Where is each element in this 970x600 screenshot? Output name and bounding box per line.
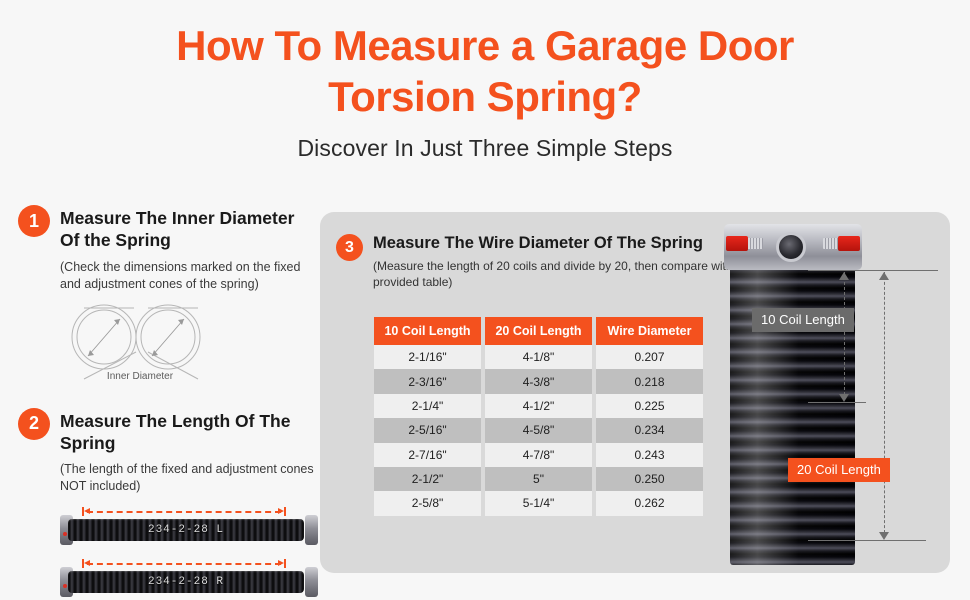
title-line-2: Torsion Spring? <box>0 71 970 122</box>
spring-part-number: 234-2-28 R <box>68 576 304 588</box>
tick-mid <box>808 402 866 403</box>
cell-20-coil: 5" <box>485 467 592 491</box>
cell-10-coil: 2-1/4" <box>374 394 481 418</box>
cell-wire-diameter: 0.234 <box>596 418 703 442</box>
wire-diameter-table: 10 Coil Length 20 Coil Length Wire Diame… <box>370 317 707 516</box>
ten-coil-arrow-up <box>839 272 849 280</box>
cell-10-coil: 2-5/16" <box>374 418 481 442</box>
cell-10-coil: 2-1/2" <box>374 467 481 491</box>
cell-20-coil: 4-3/8" <box>485 369 592 393</box>
step-2-title: Measure The Length Of The Spring <box>60 408 318 455</box>
column-header-20-coil: 20 Coil Length <box>485 317 592 345</box>
tick-top <box>808 270 938 271</box>
table-row: 2-3/16" 4-3/8" 0.218 <box>374 369 703 393</box>
cell-wire-diameter: 0.218 <box>596 369 703 393</box>
step-3-number: 3 <box>336 234 363 261</box>
ten-coil-measure-line <box>844 272 845 400</box>
spring-coil-body: 234-2-28 L <box>68 519 304 541</box>
table-row: 2-1/2" 5" 0.250 <box>374 467 703 491</box>
step-1-note: (Check the dimensions marked on the fixe… <box>60 259 318 293</box>
cell-20-coil: 4-1/2" <box>485 394 592 418</box>
twenty-coil-callout: 20 Coil Length <box>788 458 890 482</box>
cell-20-coil: 4-1/8" <box>485 345 592 369</box>
step-3-panel: 3 Measure The Wire Diameter Of The Sprin… <box>320 212 950 573</box>
cell-20-coil: 4-5/8" <box>485 418 592 442</box>
step-3-note: (Measure the length of 20 coils and divi… <box>373 259 766 291</box>
ten-coil-callout: 10 Coil Length <box>752 308 854 332</box>
twenty-coil-measure-line <box>884 272 885 538</box>
table-row: 2-1/16" 4-1/8" 0.207 <box>374 345 703 369</box>
cell-10-coil: 2-7/16" <box>374 443 481 467</box>
winding-cone-image <box>724 224 862 270</box>
length-dimension-arrow <box>82 507 286 516</box>
title-line-1: How To Measure a Garage Door <box>176 22 794 69</box>
cell-wire-diameter: 0.262 <box>596 491 703 515</box>
inner-diameter-label: Inner Diameter <box>107 371 174 382</box>
cell-wire-diameter: 0.250 <box>596 467 703 491</box>
inner-diameter-diagram: Inner Diameter <box>60 299 318 389</box>
twenty-coil-arrow-down <box>879 532 889 540</box>
header: How To Measure a Garage Door Torsion Spr… <box>0 0 970 162</box>
cell-10-coil: 2-5/8" <box>374 491 481 515</box>
set-screw-left <box>726 236 748 251</box>
step-2-header: 2 Measure The Length Of The Spring <box>18 408 318 455</box>
infographic-root: How To Measure a Garage Door Torsion Spr… <box>0 0 970 600</box>
step-2: 2 Measure The Length Of The Spring (The … <box>18 408 318 600</box>
cell-20-coil: 5-1/4" <box>485 491 592 515</box>
spring-right-hand: 234-2-28 R <box>60 557 318 599</box>
cell-10-coil: 2-3/16" <box>374 369 481 393</box>
table-header-row: 10 Coil Length 20 Coil Length Wire Diame… <box>374 317 703 345</box>
step-1-header: 1 Measure The Inner Diameter Of the Spri… <box>18 205 318 252</box>
spring-coil-body: 234-2-28 R <box>68 571 304 593</box>
cell-20-coil: 4-7/8" <box>485 443 592 467</box>
step-1: 1 Measure The Inner Diameter Of the Spri… <box>18 205 318 389</box>
tick-bottom <box>808 540 926 541</box>
cell-wire-diameter: 0.243 <box>596 443 703 467</box>
inner-diameter-svg: Inner Diameter <box>60 299 220 384</box>
cone-shaft-hole <box>776 232 806 262</box>
spring-coils-image <box>730 260 855 565</box>
spring-photo: 10 Coil Length 20 Coil Length <box>720 212 950 573</box>
set-screw-right <box>838 236 860 251</box>
column-header-wire-diameter: Wire Diameter <box>596 317 703 345</box>
spring-part-number: 234-2-28 L <box>68 524 304 536</box>
step-3-title: Measure The Wire Diameter Of The Spring <box>373 234 766 254</box>
page-title: How To Measure a Garage Door Torsion Spr… <box>0 0 970 122</box>
steps-column: 1 Measure The Inner Diameter Of the Spri… <box>18 205 318 599</box>
table-row: 2-5/16" 4-5/8" 0.234 <box>374 418 703 442</box>
table-row: 2-7/16" 4-7/8" 0.243 <box>374 443 703 467</box>
ten-coil-arrow-down <box>839 394 849 402</box>
step-1-title: Measure The Inner Diameter Of the Spring <box>60 205 318 252</box>
cell-wire-diameter: 0.207 <box>596 345 703 369</box>
spring-left-hand: 234-2-28 L <box>60 505 318 547</box>
stationary-cone-icon <box>305 567 318 597</box>
cell-10-coil: 2-1/16" <box>374 345 481 369</box>
page-subtitle: Discover In Just Three Simple Steps <box>0 122 970 162</box>
stationary-cone-icon <box>305 515 318 545</box>
step-2-note: (The length of the fixed and adjustment … <box>60 461 318 495</box>
step-3-header: 3 Measure The Wire Diameter Of The Sprin… <box>336 234 766 290</box>
step-2-number: 2 <box>18 408 50 440</box>
cell-wire-diameter: 0.225 <box>596 394 703 418</box>
twenty-coil-arrow-up <box>879 272 889 280</box>
step-1-number: 1 <box>18 205 50 237</box>
length-dimension-arrow <box>82 559 286 568</box>
column-header-10-coil: 10 Coil Length <box>374 317 481 345</box>
table-row: 2-1/4" 4-1/2" 0.225 <box>374 394 703 418</box>
spring-length-diagram: 234-2-28 L 234-2-28 R <box>60 505 318 599</box>
table-row: 2-5/8" 5-1/4" 0.262 <box>374 491 703 515</box>
